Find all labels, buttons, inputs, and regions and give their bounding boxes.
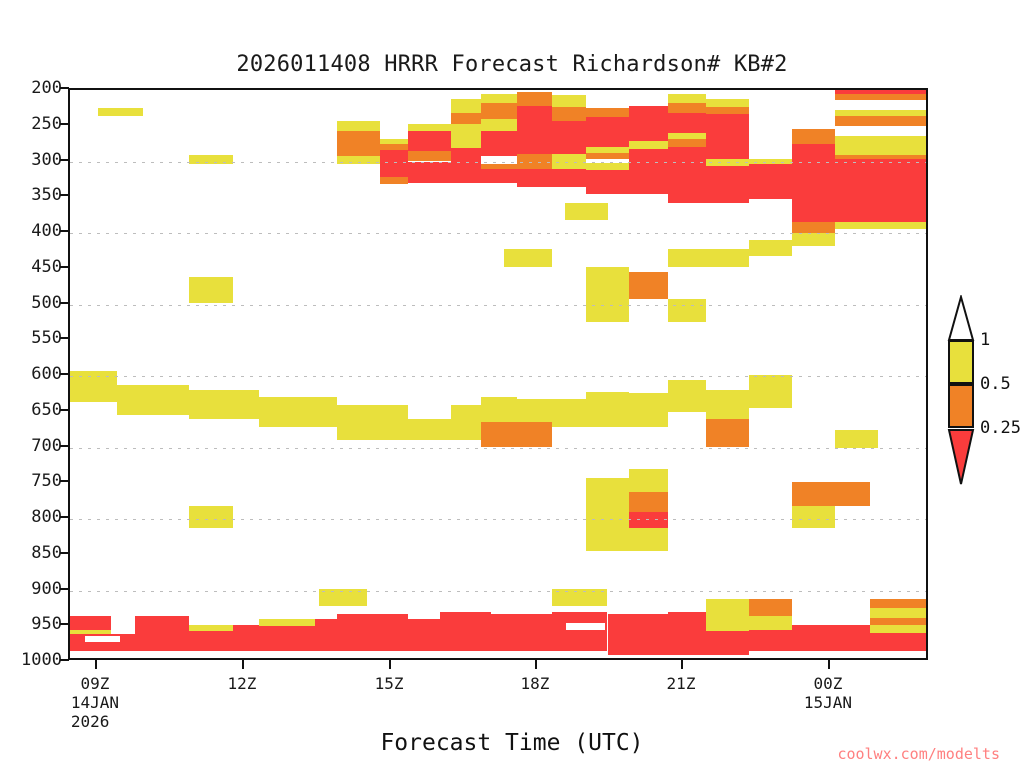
heatmap-cell — [749, 240, 792, 256]
heatmap-cell — [668, 113, 707, 133]
heatmap-cell — [481, 119, 517, 132]
heatmap-cell — [481, 422, 517, 447]
y-tick-mark — [60, 337, 69, 339]
grid-line — [70, 233, 926, 234]
grid-line — [70, 591, 926, 592]
heatmap-cell — [835, 116, 926, 125]
y-tick-mark — [60, 480, 69, 482]
heatmap-cell — [259, 619, 315, 625]
heatmap-cell — [451, 405, 481, 441]
heatmap-cell — [749, 630, 792, 651]
y-tick-label: 300 — [2, 150, 62, 170]
heatmap-cell — [792, 233, 835, 246]
heatmap-cell — [586, 267, 629, 286]
heatmap-cell — [552, 612, 608, 651]
heatmap-cell — [451, 148, 481, 183]
heatmap-cell — [706, 419, 749, 448]
heatmap-cell — [117, 385, 188, 416]
heatmap-cell — [706, 107, 749, 114]
heatmap-cell — [706, 625, 749, 631]
heatmap-cell — [552, 589, 608, 606]
y-tick-label: 650 — [2, 400, 62, 420]
y-tick-label: 850 — [2, 543, 62, 563]
heatmap-cell — [629, 117, 668, 141]
y-tick-label: 400 — [2, 221, 62, 241]
heatmap-cell — [706, 114, 749, 158]
y-tick-mark — [60, 87, 69, 89]
heatmap-cell — [552, 399, 586, 428]
x-tick-mark — [389, 660, 391, 669]
heatmap-cell — [586, 392, 629, 428]
x-tick-mark — [95, 660, 97, 669]
y-tick-mark — [60, 588, 69, 590]
heatmap-cell — [481, 103, 517, 119]
heatmap-cell — [552, 121, 586, 155]
heatmap-cell — [870, 608, 926, 617]
plot-area[interactable] — [68, 88, 928, 660]
heatmap-cell — [408, 151, 451, 162]
x-tick-mark — [828, 660, 830, 669]
heatmap-cell — [706, 166, 749, 203]
y-tick-mark — [60, 445, 69, 447]
heatmap-cell — [749, 616, 792, 630]
heatmap-cell — [380, 177, 408, 184]
colorbar-label: 1 — [980, 330, 990, 350]
grid-line — [70, 448, 926, 449]
heatmap-cell — [629, 492, 668, 512]
grid-line — [70, 305, 926, 306]
y-tick-mark — [60, 123, 69, 125]
heatmap-cell — [517, 92, 551, 106]
colorbar-arrow-down — [947, 428, 975, 488]
heatmap-cell — [668, 299, 707, 323]
heatmap-cell — [189, 390, 260, 419]
heatmap-cell — [451, 113, 481, 124]
heatmap-cell — [629, 393, 668, 427]
y-tick-mark — [60, 373, 69, 375]
heatmap-cell — [451, 99, 481, 113]
heatmap-cell — [70, 616, 111, 630]
y-tick-label: 800 — [2, 507, 62, 527]
heatmap-cell — [189, 277, 234, 303]
heatmap-cell — [319, 589, 366, 606]
heatmap-cell — [668, 380, 707, 412]
heatmap-cell — [259, 397, 336, 427]
heatmap-cell — [408, 162, 451, 183]
x-tick-mark — [535, 660, 537, 669]
x-tick-year: 2026 — [71, 712, 119, 731]
heatmap-cell — [870, 633, 926, 651]
y-tick-label: 700 — [2, 436, 62, 456]
heatmap-cell — [586, 478, 629, 512]
heatmap-cell — [337, 405, 408, 441]
heatmap-cell — [792, 144, 835, 222]
heatmap-cell — [189, 506, 234, 527]
heatmap-cell — [380, 150, 408, 177]
chart-title: 2026011408 HRRR Forecast Richardson# KB#… — [0, 52, 1024, 77]
heatmap-cell — [792, 506, 835, 527]
heatmap-cell — [481, 156, 517, 163]
colorbar-label: 0.5 — [980, 374, 1011, 394]
heatmap-cell — [337, 614, 408, 651]
watermark-link[interactable]: coolwx.com/modelts — [837, 745, 1000, 763]
x-tick-label: 00Z15JAN — [804, 674, 852, 712]
grid-line — [70, 519, 926, 520]
heatmap-cell — [586, 108, 629, 117]
heatmap-cell — [586, 512, 629, 551]
heatmap-cell — [792, 129, 835, 143]
heatmap-cell — [668, 94, 707, 103]
y-tick-mark — [60, 552, 69, 554]
x-tick-mark — [681, 660, 683, 669]
heatmap-cell — [792, 625, 869, 651]
heatmap-cell — [98, 108, 143, 117]
heatmap-cell — [870, 625, 926, 634]
y-tick-label: 750 — [2, 471, 62, 491]
heatmap-cell — [565, 203, 608, 220]
heatmap-cell — [517, 399, 551, 423]
colorbar-segment — [948, 340, 974, 384]
heatmap-cell — [706, 390, 749, 419]
x-tick-label: 21Z — [667, 674, 696, 693]
heatmap-cell — [706, 599, 749, 625]
heatmap-cell — [835, 222, 926, 229]
heatmap-cell — [552, 95, 586, 107]
heatmap-cell — [517, 422, 551, 447]
heatmap-cell — [870, 599, 926, 608]
heatmap-cell — [586, 117, 629, 147]
heatmap-cell — [491, 614, 551, 651]
heatmap-cell — [629, 528, 668, 552]
heatmap-cell — [408, 619, 440, 651]
heatmap-cell — [835, 430, 878, 448]
y-tick-mark — [60, 230, 69, 232]
heatmap-cell — [629, 272, 668, 298]
y-tick-label: 200 — [2, 78, 62, 98]
heatmap-cell — [481, 131, 517, 156]
y-tick-label: 500 — [2, 293, 62, 313]
heatmap-cell — [517, 169, 551, 188]
heatmap-cell — [586, 163, 629, 170]
heatmap-cell — [451, 124, 481, 148]
heatmap-cell — [668, 139, 707, 148]
y-tick-label: 450 — [2, 257, 62, 277]
heatmap-cell — [481, 397, 517, 422]
heatmap-cell — [552, 107, 586, 121]
y-tick-label: 1000 — [2, 650, 62, 670]
heatmap-cell — [440, 628, 492, 652]
heatmap-cell — [337, 121, 380, 132]
heatmap-cell — [517, 106, 551, 155]
heatmap-cell — [835, 159, 926, 223]
heatmap-cell — [668, 612, 707, 655]
heatmap-cell — [85, 636, 119, 642]
colorbar-label: 0.25 — [980, 418, 1021, 438]
x-tick-date: 14JAN — [71, 693, 119, 712]
heatmap-cell — [189, 625, 234, 631]
heatmap-cell — [586, 299, 629, 323]
x-tick-label: 12Z — [228, 674, 257, 693]
y-tick-mark — [60, 516, 69, 518]
colorbar-segment — [948, 384, 974, 428]
colorbar-arrow-up — [947, 295, 975, 341]
heatmap-cell — [668, 249, 750, 267]
heatmap-cell — [668, 147, 707, 203]
y-tick-mark — [60, 302, 69, 304]
heatmap-cell — [408, 419, 451, 440]
y-tick-label: 900 — [2, 579, 62, 599]
heatmap-cell — [835, 94, 926, 100]
y-tick-label: 350 — [2, 185, 62, 205]
heatmap-cell — [408, 124, 451, 132]
heatmap-cell — [629, 149, 668, 194]
heatmap-cell — [629, 469, 668, 492]
heatmap-cell — [408, 131, 451, 150]
heatmap-cell — [608, 614, 668, 655]
heatmap-cell — [792, 222, 835, 233]
y-tick-mark — [60, 266, 69, 268]
heatmap-cell — [566, 623, 605, 630]
y-tick-mark — [60, 409, 69, 411]
y-tick-label: 600 — [2, 364, 62, 384]
heatmap-cell — [504, 249, 551, 267]
y-tick-label: 550 — [2, 328, 62, 348]
heatmap-cell — [337, 156, 380, 163]
heatmap-cell — [629, 106, 668, 117]
y-tick-mark — [60, 659, 69, 661]
heatmap-cell — [835, 136, 926, 155]
x-tick-mark — [242, 660, 244, 669]
heatmap-cell — [749, 164, 792, 198]
heatmap-cell — [337, 131, 380, 156]
y-tick-mark — [60, 159, 69, 161]
heatmap-cell — [552, 169, 586, 188]
heatmap-cell — [792, 482, 869, 506]
y-tick-label: 950 — [2, 614, 62, 634]
heatmap-cell — [481, 169, 517, 183]
heatmap-cell — [870, 618, 926, 625]
heatmap-cell — [135, 630, 189, 651]
y-tick-mark — [60, 194, 69, 196]
chart-root: 2026011408 HRRR Forecast Richardson# KB#… — [0, 0, 1024, 768]
heatmap-cell — [440, 612, 492, 628]
x-tick-label: 09Z14JAN2026 — [71, 674, 119, 731]
grid-line — [70, 162, 926, 163]
heatmap-cell — [749, 599, 792, 615]
heatmap-cell — [668, 103, 707, 113]
x-tick-label: 18Z — [521, 674, 550, 693]
heatmap-cell — [706, 99, 749, 108]
heatmap-cell — [481, 94, 517, 103]
grid-line — [70, 376, 926, 377]
heatmap-cell — [629, 141, 668, 148]
x-tick-label: 15Z — [375, 674, 404, 693]
x-tick-date: 15JAN — [804, 693, 852, 712]
heatmap-canvas — [70, 90, 926, 658]
heatmap-cell — [586, 170, 629, 194]
y-tick-mark — [60, 623, 69, 625]
heatmap-cell — [749, 375, 792, 409]
heatmap-cell — [135, 616, 189, 630]
y-tick-label: 250 — [2, 114, 62, 134]
